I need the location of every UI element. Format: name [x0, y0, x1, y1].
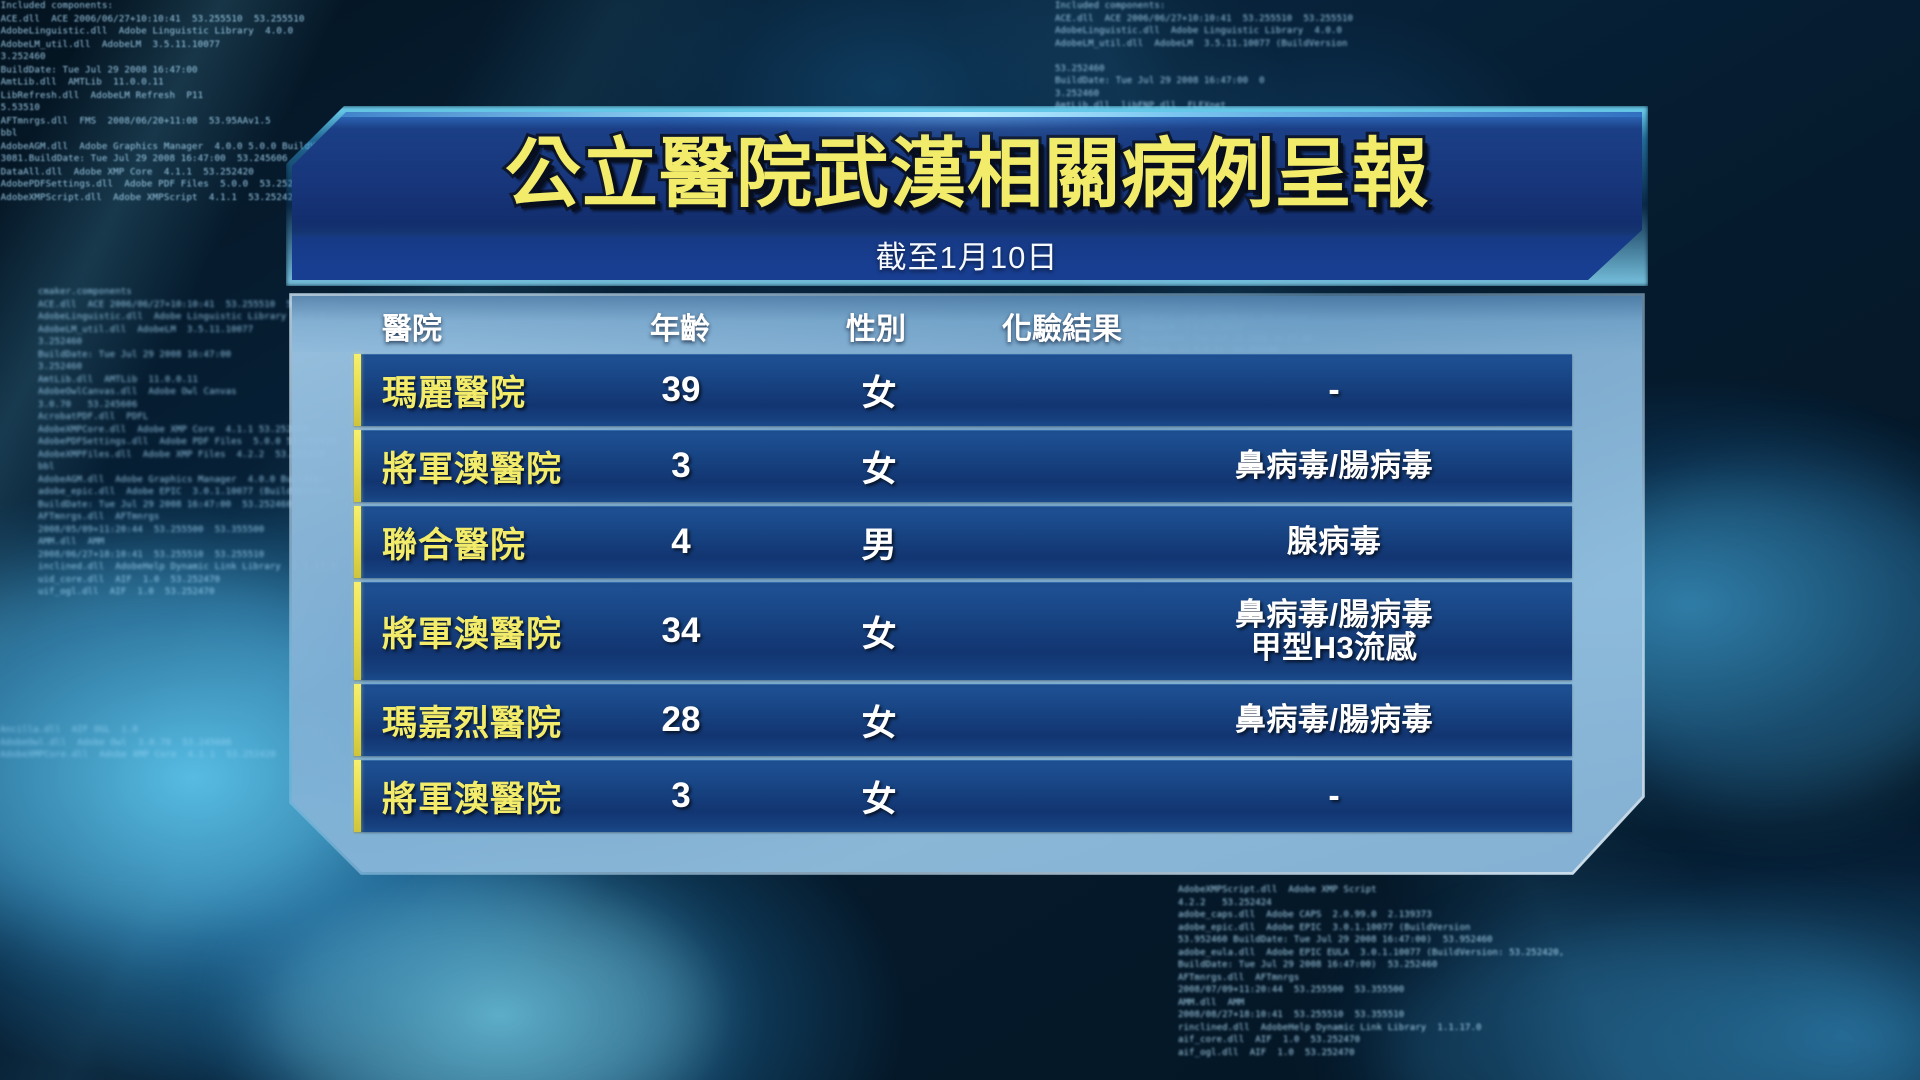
cell-age: 28 [662, 700, 701, 740]
column-header-hospital: 醫院 [382, 304, 442, 348]
cell-result: - [1099, 372, 1569, 409]
cell-result: 鼻病毒/腸病毒 [1099, 449, 1569, 482]
cell-result: 腺病毒 [1099, 525, 1569, 558]
background-glow-blob [250, 880, 710, 1080]
cell-sex: 女 [861, 606, 896, 657]
cell-age: 3 [671, 776, 690, 816]
cell-age: 34 [662, 611, 701, 651]
table-row[interactable]: 瑪麗醫院 39 女 - [354, 354, 1572, 426]
cell-age: 39 [662, 370, 701, 410]
cell-age: 4 [671, 522, 690, 562]
row-accent-bar [354, 760, 361, 832]
banner-body: 公立醫院武漢相關病例呈報 截至1月10日 [292, 112, 1642, 280]
result-line-2: 甲型H3流感 [1251, 630, 1418, 665]
result-line-1: - [1328, 371, 1339, 409]
cell-sex: 男 [861, 517, 896, 568]
table-row[interactable]: 將軍澳醫院 3 女 鼻病毒/腸病毒 [354, 430, 1572, 502]
cell-hospital: 將軍澳醫院 [382, 606, 562, 657]
table-row[interactable]: 將軍澳醫院 3 女 - [354, 760, 1572, 832]
title-row: 公立醫院武漢相關病例呈報 [292, 118, 1642, 230]
cell-sex: 女 [861, 771, 896, 822]
page-title: 公立醫院武漢相關病例呈報 [505, 136, 1429, 212]
row-accent-bar [354, 684, 361, 756]
broadcast-graphic-stage: Included components: ACE.dll ACE 2006/06… [0, 0, 1920, 1080]
result-line-1: - [1328, 777, 1339, 815]
table-header-row: 醫院 年齡 性別 化驗結果 [292, 296, 1642, 352]
cell-hospital: 瑪麗醫院 [382, 365, 526, 416]
cell-hospital: 將軍澳醫院 [382, 441, 562, 492]
background-glow-blob [1380, 920, 1920, 1080]
cell-result: 鼻病毒/腸病毒 甲型H3流感 [1099, 598, 1569, 665]
cell-hospital: 聯合醫院 [382, 517, 526, 568]
background-code-text: AdobeXMPScript.dll Adobe XMP Script 4.2.… [1178, 884, 1564, 1059]
subtitle-strip: 截至1月10日 [292, 228, 1642, 280]
row-accent-bar [354, 582, 361, 680]
column-header-result: 化驗結果 [1002, 304, 1122, 348]
row-accent-bar [354, 430, 361, 502]
page-subtitle: 截至1月10日 [876, 232, 1059, 277]
result-line-1: 鼻病毒/腸病毒 [1235, 597, 1433, 632]
column-header-sex: 性別 [846, 304, 906, 348]
cell-sex: 女 [861, 695, 896, 746]
row-accent-bar [354, 506, 361, 578]
table-row[interactable]: 瑪嘉烈醫院 28 女 鼻病毒/腸病毒 [354, 684, 1572, 756]
cell-sex: 女 [861, 365, 896, 416]
title-banner: 公立醫院武漢相關病例呈報 截至1月10日 [292, 112, 1642, 280]
cell-hospital: 將軍澳醫院 [382, 771, 562, 822]
cell-age: 3 [671, 446, 690, 486]
column-header-age: 年齡 [650, 304, 710, 348]
table-row[interactable]: 將軍澳醫院 34 女 鼻病毒/腸病毒 甲型H3流感 [354, 582, 1572, 680]
cell-result: - [1099, 778, 1569, 815]
data-table-panel: 醫院 年齡 性別 化驗結果 瑪麗醫院 39 女 - 將軍澳醫院 3 女 [292, 296, 1642, 872]
background-code-text: Ancilla.dll AIF OGL 1.0 AdobeOwl.dll Ado… [0, 724, 276, 762]
result-line-1: 腺病毒 [1287, 524, 1382, 559]
cell-result: 鼻病毒/腸病毒 [1099, 703, 1569, 736]
row-accent-bar [354, 354, 361, 426]
result-line-1: 鼻病毒/腸病毒 [1235, 702, 1433, 737]
table-body: 瑪麗醫院 39 女 - 將軍澳醫院 3 女 鼻病毒/腸病毒 聯合醫院 4 [354, 354, 1572, 832]
cell-sex: 女 [861, 441, 896, 492]
cell-hospital: 瑪嘉烈醫院 [382, 695, 562, 746]
table-row[interactable]: 聯合醫院 4 男 腺病毒 [354, 506, 1572, 578]
result-line-1: 鼻病毒/腸病毒 [1235, 448, 1433, 483]
